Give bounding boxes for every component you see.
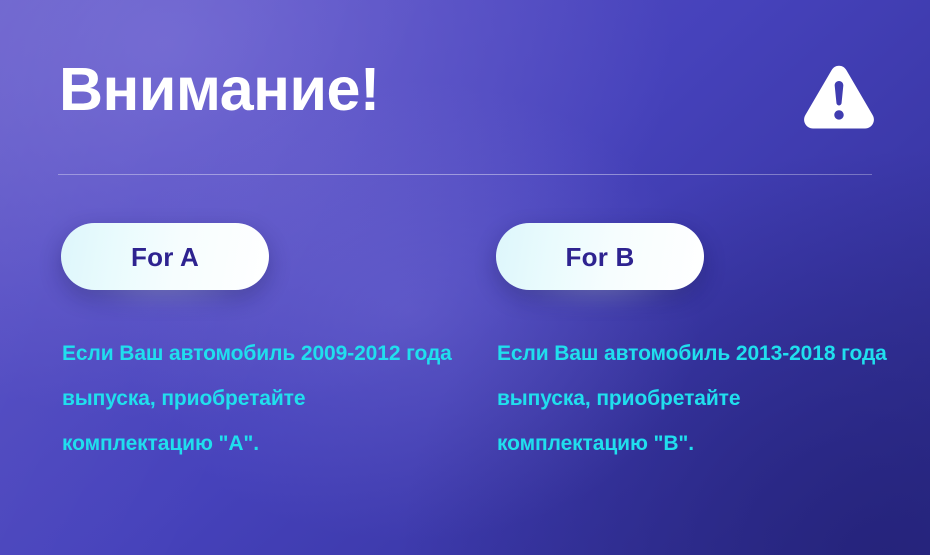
description-b: Если Ваш автомобиль 2013-2018 года выпус… [497,331,892,466]
pill-button-for-a[interactable]: For A [61,223,269,290]
pill-b-wrap: For B [496,223,704,290]
header-divider [58,174,872,175]
warning-triangle-icon [803,64,875,130]
page-title: Внимание! [59,57,380,121]
warning-banner: Внимание! For A Если Ваш автомобиль 2009… [0,0,930,555]
pill-button-for-b[interactable]: For B [496,223,704,290]
option-column-a: For A Если Ваш автомобиль 2009-2012 года… [61,223,269,290]
pill-b-label: For B [566,244,635,270]
pill-a-wrap: For A [61,223,269,290]
description-a: Если Ваш автомобиль 2009-2012 года выпус… [62,331,457,466]
option-column-b: For B Если Ваш автомобиль 2013-2018 года… [496,223,704,290]
pill-a-label: For A [131,244,199,270]
